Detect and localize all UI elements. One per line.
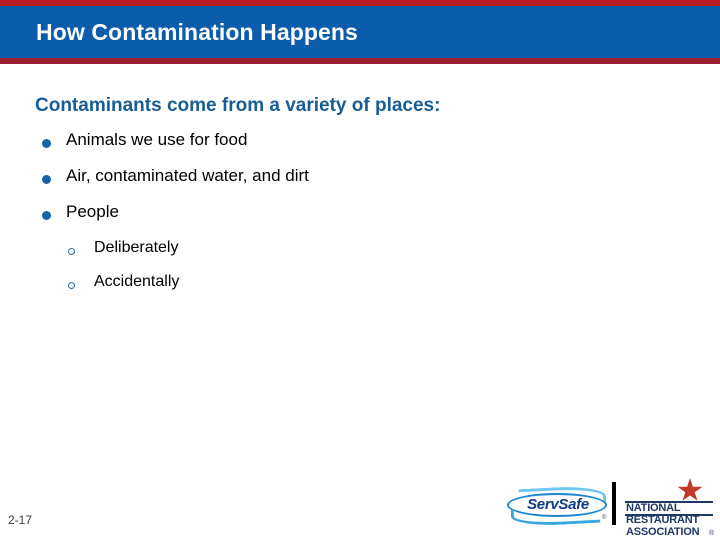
header-bottom-rule bbox=[0, 58, 720, 64]
servsafe-wordmark: ServSafe bbox=[517, 496, 599, 513]
logo-divider bbox=[612, 482, 616, 525]
list-item: Animals we use for food bbox=[0, 127, 700, 163]
bullet-disc-icon bbox=[42, 175, 51, 184]
sub-list-item: Accidentally bbox=[0, 269, 700, 303]
bullet-list: Animals we use for food Air, contaminate… bbox=[0, 127, 700, 303]
slide: How Contamination Happens Contaminants c… bbox=[0, 0, 720, 540]
nra-line-3: ASSOCIATION bbox=[626, 526, 699, 538]
list-item: Air, contaminated water, and dirt bbox=[0, 163, 700, 199]
sub-list-item: Deliberately bbox=[0, 235, 700, 269]
content-heading: Contaminants come from a variety of plac… bbox=[35, 95, 440, 117]
slide-header: How Contamination Happens bbox=[0, 0, 720, 65]
list-item-label: Air, contaminated water, and dirt bbox=[66, 163, 309, 189]
page-title: How Contamination Happens bbox=[36, 17, 358, 47]
star-icon bbox=[677, 478, 703, 503]
nra-line-1: NATIONAL bbox=[626, 502, 680, 514]
bullet-circle-icon bbox=[68, 248, 75, 255]
list-item: People bbox=[0, 199, 700, 235]
logo-group: ServSafe ® NATIONAL RESTAURANT ASSOCIATI… bbox=[505, 477, 715, 532]
sub-list-item-label: Accidentally bbox=[94, 269, 179, 294]
list-item-label: People bbox=[66, 199, 119, 225]
slide-footer: 2-17 ServSafe ® NATIONAL RESTAURANT ASSO… bbox=[0, 465, 720, 540]
bullet-disc-icon bbox=[42, 211, 51, 220]
bullet-circle-icon bbox=[68, 282, 75, 289]
nra-line-2: RESTAURANT bbox=[626, 514, 699, 526]
slide-body: Contaminants come from a variety of plac… bbox=[0, 65, 720, 465]
servsafe-registered-mark: ® bbox=[602, 515, 606, 521]
sub-list-item-label: Deliberately bbox=[94, 235, 178, 260]
national-restaurant-association-logo-icon: NATIONAL RESTAURANT ASSOCIATION ® bbox=[625, 477, 720, 532]
list-item-label: Animals we use for food bbox=[66, 127, 247, 153]
servsafe-logo-icon: ServSafe ® bbox=[505, 485, 611, 525]
nra-registered-mark: ® bbox=[709, 530, 714, 537]
bullet-disc-icon bbox=[42, 139, 51, 148]
page-number: 2-17 bbox=[8, 513, 32, 527]
